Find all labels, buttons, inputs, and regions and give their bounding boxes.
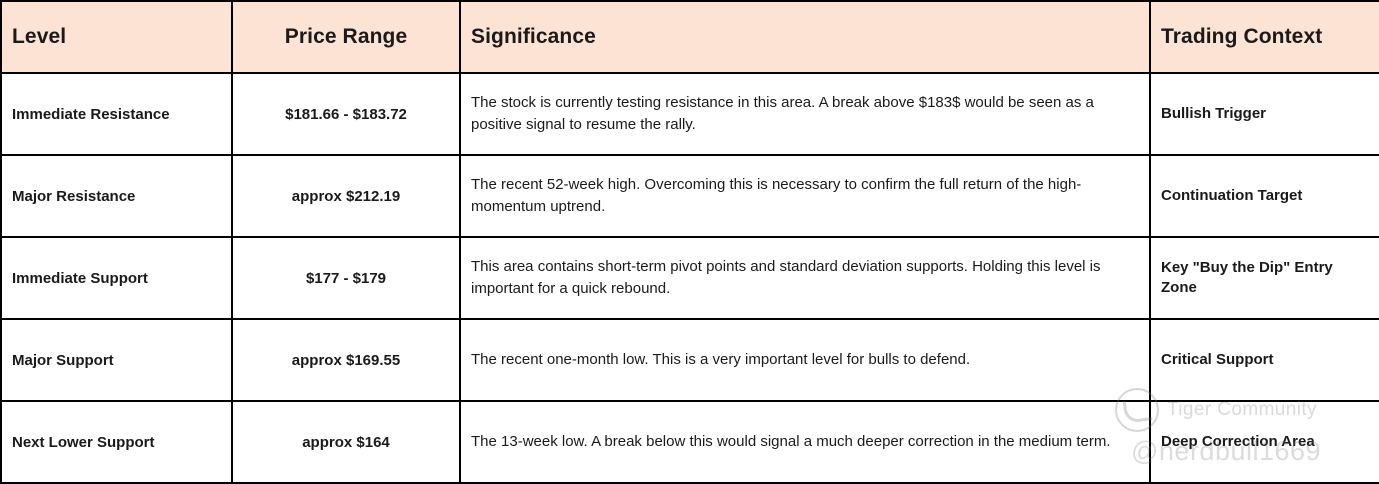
- cell-level: Next Lower Support: [1, 401, 232, 483]
- column-header-level: Level: [1, 1, 232, 73]
- cell-level: Major Resistance: [1, 155, 232, 237]
- cell-price-range: approx $212.19: [232, 155, 460, 237]
- cell-significance: This area contains short-term pivot poin…: [460, 237, 1150, 319]
- cell-significance: The 13-week low. A break below this woul…: [460, 401, 1150, 483]
- cell-price-range: approx $169.55: [232, 319, 460, 401]
- table-header: Level Price Range Significance Trading C…: [1, 1, 1379, 73]
- table-row: Immediate Resistance $181.66 - $183.72 T…: [1, 73, 1379, 155]
- column-header-significance: Significance: [460, 1, 1150, 73]
- cell-level: Immediate Resistance: [1, 73, 232, 155]
- cell-price-range: $177 - $179: [232, 237, 460, 319]
- table-body: Immediate Resistance $181.66 - $183.72 T…: [1, 73, 1379, 483]
- table-header-row: Level Price Range Significance Trading C…: [1, 1, 1379, 73]
- column-header-price-range: Price Range: [232, 1, 460, 73]
- cell-level: Immediate Support: [1, 237, 232, 319]
- cell-trading-context: Deep Correction Area: [1150, 401, 1379, 483]
- cell-level: Major Support: [1, 319, 232, 401]
- table-row: Next Lower Support approx $164 The 13-we…: [1, 401, 1379, 483]
- cell-price-range: $181.66 - $183.72: [232, 73, 460, 155]
- cell-trading-context: Critical Support: [1150, 319, 1379, 401]
- cell-price-range: approx $164: [232, 401, 460, 483]
- cell-trading-context: Bullish Trigger: [1150, 73, 1379, 155]
- support-resistance-levels-table: Level Price Range Significance Trading C…: [0, 0, 1379, 484]
- cell-trading-context: Continuation Target: [1150, 155, 1379, 237]
- cell-significance: The recent 52-week high. Overcoming this…: [460, 155, 1150, 237]
- cell-significance: The stock is currently testing resistanc…: [460, 73, 1150, 155]
- cell-significance: The recent one-month low. This is a very…: [460, 319, 1150, 401]
- table-row: Immediate Support $177 - $179 This area …: [1, 237, 1379, 319]
- table-row: Major Support approx $169.55 The recent …: [1, 319, 1379, 401]
- column-header-trading-context: Trading Context: [1150, 1, 1379, 73]
- table-row: Major Resistance approx $212.19 The rece…: [1, 155, 1379, 237]
- cell-trading-context: Key "Buy the Dip" Entry Zone: [1150, 237, 1379, 319]
